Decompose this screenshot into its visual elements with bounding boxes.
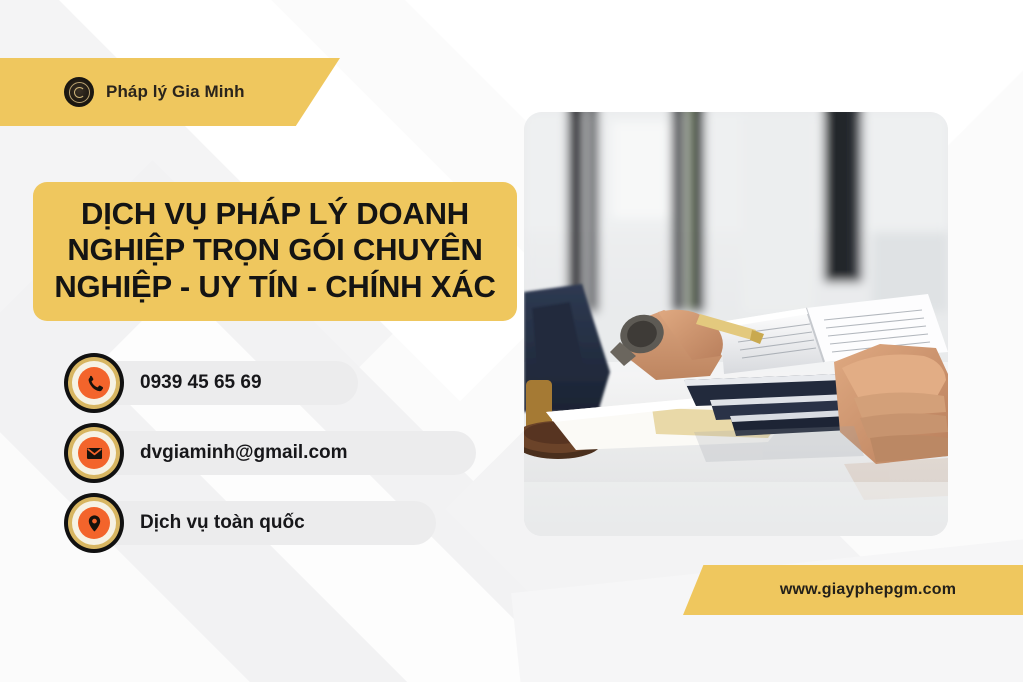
hero-photo (524, 112, 948, 536)
gia-minh-emblem-icon (64, 77, 94, 107)
contact-label-email: dvgiaminh@gmail.com (140, 442, 348, 464)
contact-list: 0939 45 65 69 dvgiaminh@gmail.com (64, 352, 348, 562)
contact-row-email[interactable]: dvgiaminh@gmail.com (64, 422, 348, 484)
location-pin-icon (64, 493, 124, 553)
contact-row-phone[interactable]: 0939 45 65 69 (64, 352, 348, 414)
envelope-icon (64, 423, 124, 483)
banner-canvas: Pháp lý Gia Minh DỊCH VỤ PHÁP LÝ DOANH N… (0, 0, 1023, 682)
contact-row-location[interactable]: Dịch vụ toàn quốc (64, 492, 348, 554)
brand-name: Pháp lý Gia Minh (106, 82, 245, 102)
headline-box: DỊCH VỤ PHÁP LÝ DOANH NGHIỆP TRỌN GÓI CH… (33, 182, 517, 321)
website-bar[interactable]: www.giayphepgm.com (683, 565, 1023, 615)
contact-label-location: Dịch vụ toàn quốc (140, 512, 305, 534)
brand-banner: Pháp lý Gia Minh (0, 58, 340, 126)
contact-label-phone: 0939 45 65 69 (140, 372, 262, 394)
phone-icon (64, 353, 124, 413)
website-url: www.giayphepgm.com (780, 581, 956, 599)
page-title: DỊCH VỤ PHÁP LÝ DOANH NGHIỆP TRỌN GÓI CH… (43, 196, 507, 305)
